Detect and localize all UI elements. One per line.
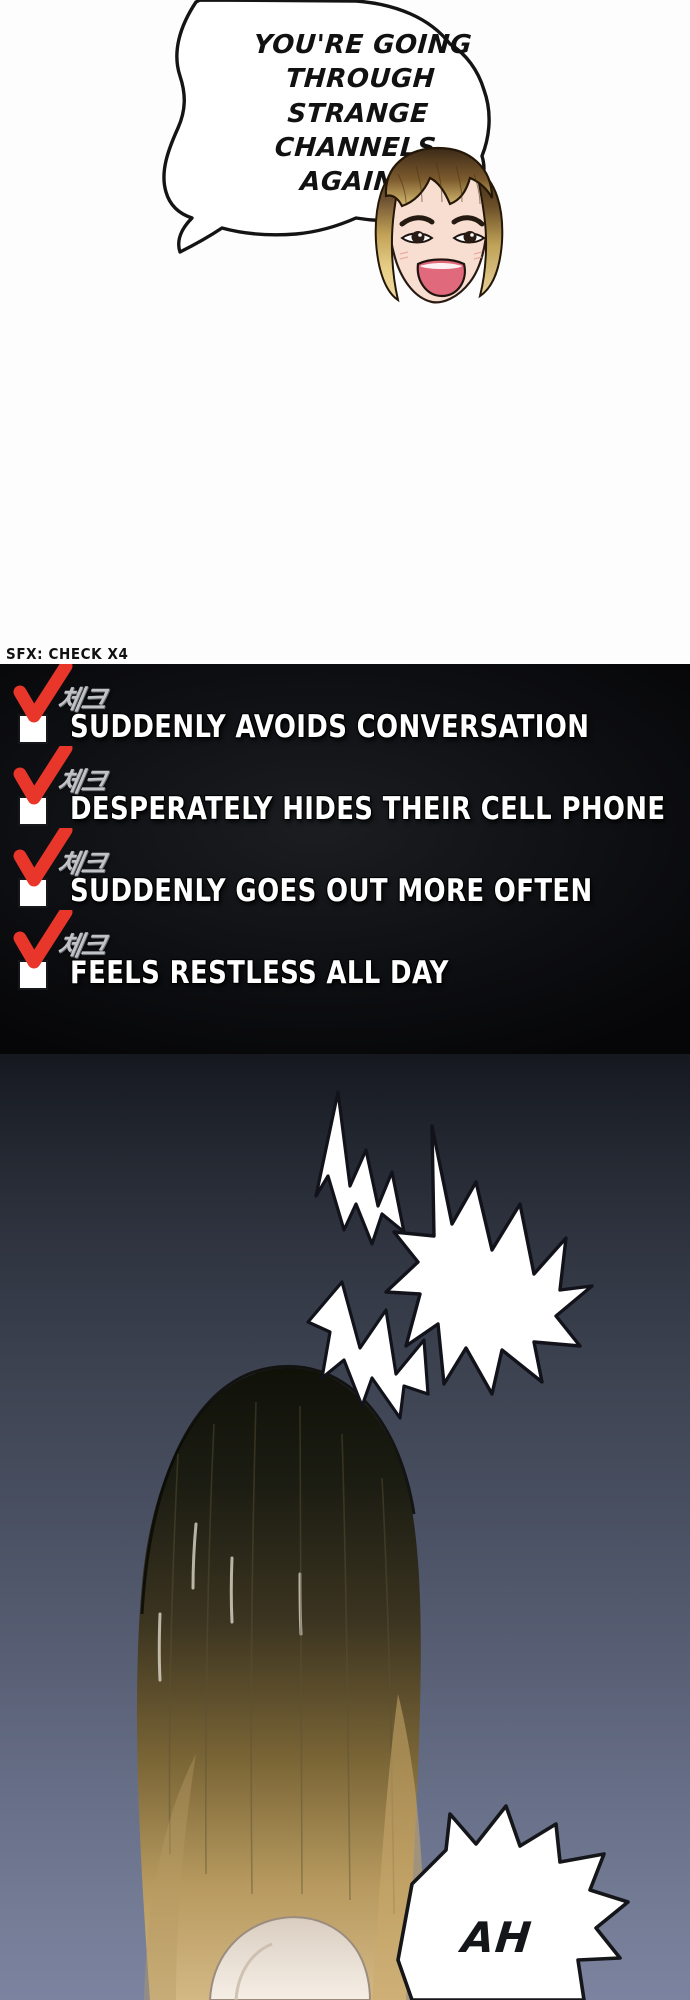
- checklist-item-label: DESPERATELY HIDES THEIR CELL PHONE: [70, 790, 665, 828]
- sfx-caption: SFX: CHECK X4: [6, 645, 129, 663]
- checkbox[interactable]: [18, 714, 48, 744]
- bubble-line-2: THROUGH STRANGE: [227, 62, 492, 131]
- ah-bubble-text: AH: [459, 1913, 534, 1962]
- white-panel: YOU'RE GOING THROUGH STRANGE CHANNELS AG…: [0, 0, 690, 660]
- webtoon-page: YOU'RE GOING THROUGH STRANGE CHANNELS AG…: [0, 0, 690, 2000]
- checklist-item-label: SUDDENLY AVOIDS CONVERSATION: [70, 708, 589, 746]
- checklist-item-label: SUDDENLY GOES OUT MORE OFTEN: [70, 872, 593, 910]
- night-scene-svg: [0, 1054, 690, 2000]
- character-blonde-ombre-girl: [358, 146, 518, 322]
- bubble-line-1: YOU'RE GOING: [232, 28, 494, 62]
- night-scene-panel: [0, 1054, 690, 2000]
- face-svg: [358, 146, 518, 322]
- checklist-item-label: FEELS RESTLESS ALL DAY: [70, 954, 449, 992]
- checkbox[interactable]: [18, 878, 48, 908]
- checkbox[interactable]: [18, 796, 48, 826]
- checkbox[interactable]: [18, 960, 48, 990]
- checklist-panel: 체크 SUDDENLY AVOIDS CONVERSATION 체크 DESPE…: [0, 664, 690, 1054]
